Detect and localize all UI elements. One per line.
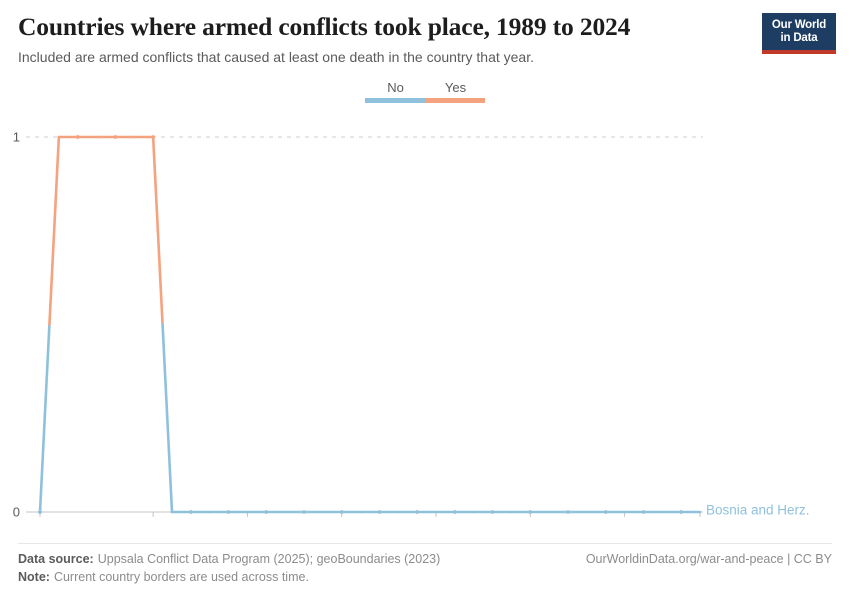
series-line-segment[interactable] (49, 137, 58, 325)
series-data-point[interactable] (528, 510, 532, 514)
footer-source-row: Data source:Uppsala Conflict Data Progra… (18, 551, 832, 568)
series-data-point[interactable] (566, 510, 570, 514)
footer-note-row: Note:Current country borders are used ac… (18, 569, 832, 586)
series-data-point[interactable] (453, 510, 457, 514)
series-data-point[interactable] (604, 510, 608, 514)
data-source-text: Uppsala Conflict Data Program (2025); ge… (98, 552, 441, 566)
series-data-point[interactable] (114, 135, 118, 139)
y-axis-tick-label: 0 (13, 504, 20, 518)
chart-footer: Data source:Uppsala Conflict Data Progra… (18, 543, 832, 586)
chart-header: Countries where armed conflicts took pla… (18, 12, 758, 67)
legend-swatch-no[interactable] (365, 98, 426, 103)
legend-inner: No Yes (365, 80, 485, 103)
series-lines[interactable] (40, 137, 700, 512)
chart-subtitle: Included are armed conflicts that caused… (18, 48, 758, 67)
series-data-point[interactable] (189, 510, 193, 514)
series-data-point[interactable] (264, 510, 268, 514)
series-data-point[interactable] (38, 510, 42, 514)
legend-labels: No Yes (365, 80, 485, 95)
series-data-point[interactable] (340, 510, 344, 514)
series-points[interactable] (38, 135, 683, 514)
series-data-point[interactable] (642, 510, 646, 514)
series-data-point[interactable] (679, 510, 683, 514)
note-text: Current country borders are used across … (54, 570, 309, 584)
data-source-line: Data source:Uppsala Conflict Data Progra… (18, 551, 440, 568)
series-line-segment[interactable] (163, 325, 172, 513)
note-label: Note: (18, 570, 50, 584)
legend-swatches (365, 98, 485, 103)
chart-root: Countries where armed conflicts took pla… (0, 0, 850, 600)
legend-label-yes[interactable]: Yes (426, 80, 485, 95)
series-data-point[interactable] (227, 510, 231, 514)
series-line-segment[interactable] (153, 137, 162, 325)
series-end-labels[interactable]: Bosnia and Herz. (706, 503, 810, 518)
series-end-label[interactable]: Bosnia and Herz. (706, 503, 810, 518)
chart-legend: No Yes (0, 80, 850, 103)
owid-logo[interactable]: Our World in Data (762, 13, 836, 54)
series-data-point[interactable] (151, 135, 155, 139)
y-axis-tick-label: 1 (13, 129, 20, 144)
note-line: Note:Current country borders are used ac… (18, 569, 309, 586)
series-data-point[interactable] (378, 510, 382, 514)
y-axis-tick-labels: 01 (13, 129, 20, 518)
series-data-point[interactable] (491, 510, 495, 514)
legend-swatch-yes[interactable] (426, 98, 485, 103)
page-title: Countries where armed conflicts took pla… (18, 12, 758, 42)
data-source-label: Data source: (18, 552, 94, 566)
attribution-link[interactable]: OurWorldinData.org/war-and-peace | CC BY (586, 551, 832, 568)
plot-area[interactable]: 01 19891995200020052010201520202024 Bosn… (0, 118, 850, 518)
logo-line-1: Our World (766, 19, 832, 32)
logo-line-2: in Data (766, 32, 832, 45)
series-data-point[interactable] (415, 510, 419, 514)
series-line-segment[interactable] (40, 325, 49, 513)
series-data-point[interactable] (302, 510, 306, 514)
chart-canvas[interactable]: 01 19891995200020052010201520202024 Bosn… (0, 118, 850, 518)
series-data-point[interactable] (76, 135, 80, 139)
legend-label-no[interactable]: No (365, 80, 426, 95)
